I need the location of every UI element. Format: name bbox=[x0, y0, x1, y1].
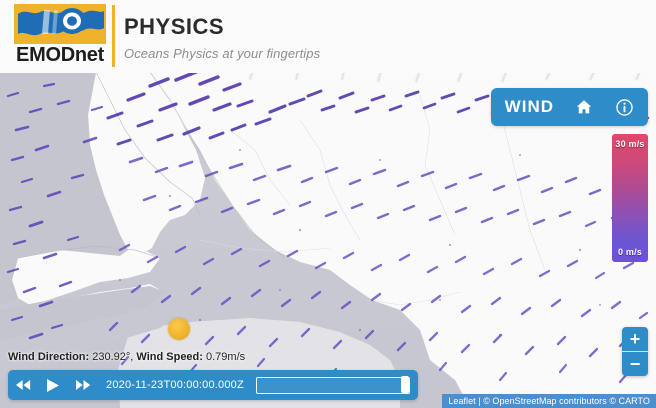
wind-layer-panel[interactable]: WIND bbox=[491, 88, 648, 126]
emodnet-logo[interactable]: EMODnet bbox=[8, 4, 112, 68]
station-marker[interactable] bbox=[168, 318, 190, 340]
colorbar-gradient bbox=[612, 134, 648, 262]
time-slider-handle[interactable] bbox=[401, 376, 409, 393]
attribution-text: Leaflet | © OpenStreetMap contributors ©… bbox=[448, 396, 650, 406]
fast-forward-icon[interactable] bbox=[68, 370, 98, 400]
map-attribution[interactable]: Leaflet | © OpenStreetMap contributors ©… bbox=[442, 394, 656, 408]
info-icon[interactable] bbox=[614, 97, 634, 117]
zoom-out-button[interactable]: − bbox=[622, 352, 648, 376]
wind-speed-value: 0.79m/s bbox=[206, 351, 245, 363]
play-icon[interactable] bbox=[38, 370, 68, 400]
wind-direction-label: Wind Direction: bbox=[8, 351, 89, 363]
wind-readout: Wind Direction: 230.92°, Wind Speed: 0.7… bbox=[8, 351, 245, 363]
wind-speed-colorbar: 30 m/s 0 m/s bbox=[612, 134, 648, 262]
timestamp-display: 2020-11-23T00:00:00.000Z bbox=[106, 379, 244, 391]
home-icon[interactable] bbox=[574, 97, 594, 117]
app-header: EMODnet PHYSICS Oceans Physics at your f… bbox=[0, 0, 656, 73]
time-slider[interactable] bbox=[256, 377, 410, 394]
time-controls[interactable]: 2020-11-23T00:00:00.000Z bbox=[8, 370, 418, 400]
header-divider bbox=[112, 5, 115, 67]
emodnet-physics-app: EMODnet PHYSICS Oceans Physics at your f… bbox=[0, 0, 656, 408]
page-title: PHYSICS bbox=[124, 14, 320, 40]
colorbar-max-label: 30 m/s bbox=[612, 139, 648, 149]
zoom-in-button[interactable]: + bbox=[622, 327, 648, 352]
emodnet-logo-mark bbox=[14, 4, 106, 44]
rewind-icon[interactable] bbox=[8, 370, 38, 400]
wind-layer-label: WIND bbox=[505, 97, 554, 117]
wind-speed-label: Wind Speed: bbox=[136, 351, 203, 363]
colorbar-min-label: 0 m/s bbox=[612, 247, 648, 257]
header-title-block: PHYSICS Oceans Physics at your fingertip… bbox=[124, 14, 320, 61]
emodnet-logo-text: EMODnet bbox=[8, 44, 112, 67]
emodnet-wave-eye-icon bbox=[14, 4, 106, 44]
page-subtitle: Oceans Physics at your fingertips bbox=[124, 46, 320, 61]
map-zoom-controls[interactable]: + − bbox=[622, 327, 648, 376]
wind-direction-value: 230.92°, bbox=[92, 351, 133, 363]
